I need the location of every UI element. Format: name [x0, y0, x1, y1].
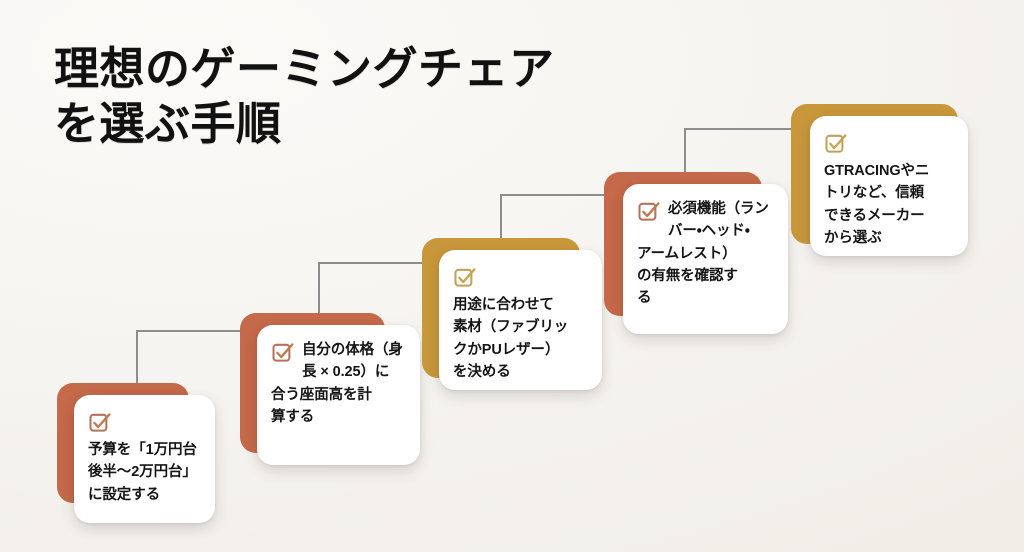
slide-canvas: 理想のゲーミングチェア を選ぶ手順 予算を「1万円台 後半〜2万円台」 に設定す…	[0, 0, 1024, 552]
step-card-2[interactable]: 自分の体格（身 長 × 0.25）に 合う座面高を計 算する	[240, 313, 420, 465]
step-card-body[interactable]: GTRACINGやニ トリなど、信頼 できるメーカー から選ぶ	[810, 116, 968, 256]
connector-horizontal-segment	[500, 194, 620, 196]
connector-horizontal-segment	[684, 128, 808, 130]
step-card-4[interactable]: 必須機能（ラン バー・ヘッド・ アームレスト） の有無を確認す る	[604, 172, 788, 328]
step-card-body[interactable]: 用途に合わせて 素材（ファブリッ クかPUレザー） を決める	[439, 250, 602, 390]
checkbox-checked-icon	[637, 199, 662, 224]
page-title: 理想のゲーミングチェア を選ぶ手順	[54, 42, 614, 152]
step-card-body[interactable]: 自分の体格（身 長 × 0.25）に 合う座面高を計 算する	[257, 325, 420, 465]
connector-horizontal-segment	[318, 262, 438, 264]
step-card-1[interactable]: 予算を「1万円台 後半〜2万円台」 に設定する	[57, 383, 217, 523]
checkbox-checked-icon	[453, 265, 478, 290]
connector-horizontal-segment	[136, 330, 256, 332]
step-card-body[interactable]: 予算を「1万円台 後半〜2万円台」 に設定する	[74, 395, 215, 523]
step-card-3[interactable]: 用途に合わせて 素材（ファブリッ クかPUレザー） を決める	[422, 238, 602, 390]
step-card-5[interactable]: GTRACINGやニ トリなど、信頼 できるメーカー から選ぶ	[791, 104, 971, 256]
checkbox-checked-icon	[824, 131, 849, 156]
checkbox-checked-icon	[88, 410, 113, 435]
checkbox-checked-icon	[271, 340, 296, 365]
step-card-body[interactable]: 必須機能（ラン バー・ヘッド・ アームレスト） の有無を確認す る	[623, 184, 788, 334]
